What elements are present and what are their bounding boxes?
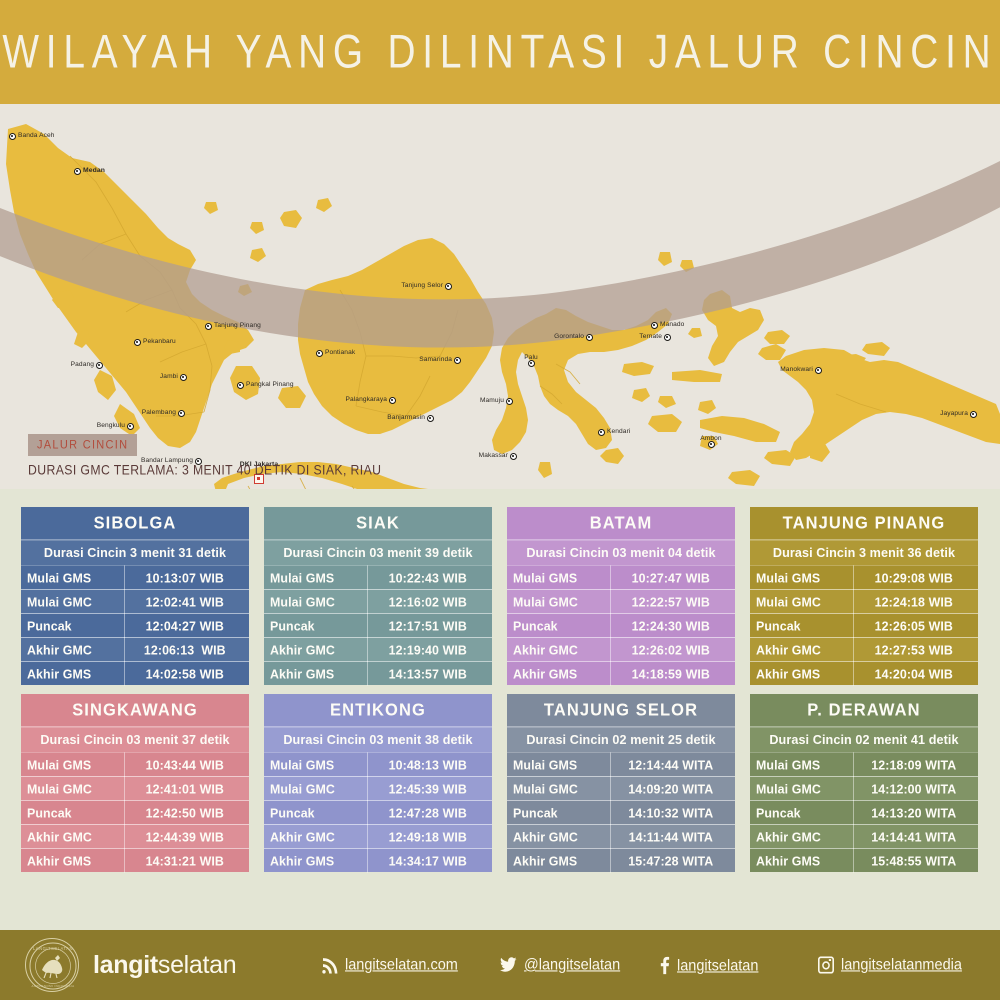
row-label: Mulai GMS — [750, 565, 853, 589]
table-row: Mulai GMC12:41:01 WIB — [21, 776, 249, 800]
table-row: Puncak12:26:05 WIB — [750, 613, 978, 637]
table-row: Mulai GMS10:27:47 WIB — [507, 565, 735, 589]
indonesia-map — [0, 104, 1000, 489]
row-value: 14:02:58 WIB — [124, 661, 249, 685]
footer-link-instagram-label: langitselatanmedia — [841, 956, 962, 973]
city-dot — [178, 410, 185, 417]
row-value: 14:13:57 WIB — [367, 661, 492, 685]
city-label: Mamuju — [409, 397, 504, 404]
row-label: Akhir GMS — [750, 661, 853, 685]
city-label: Palu — [511, 354, 551, 361]
row-value: 14:11:44 WITA — [610, 824, 735, 848]
row-value: 14:12:00 WITA — [853, 776, 978, 800]
table-row: Akhir GMS14:02:58 WIB — [21, 661, 249, 685]
table-row: Mulai GMS12:14:44 WITA — [507, 752, 735, 776]
row-value: 14:14:41 WITA — [853, 824, 978, 848]
row-label: Akhir GMS — [21, 848, 124, 872]
row-value: 12:18:09 WITA — [853, 752, 978, 776]
city-dot — [651, 322, 658, 329]
table-row: Mulai GMC12:45:39 WIB — [264, 776, 492, 800]
row-label: Akhir GMC — [21, 824, 124, 848]
card-duration: Durasi Cincin 02 menit 41 detik — [750, 726, 978, 752]
langitselatan-seal-icon: LANGITSELATAN ASTRONOMI INDONESIA — [25, 938, 79, 992]
city-timing-cards-section: SIBOLGADurasi Cincin 3 menit 31 detikMul… — [0, 489, 1000, 930]
city-timing-card: P. DERAWANDurasi Cincin 02 menit 41 deti… — [750, 694, 978, 872]
table-row: Akhir GMC12:06:13 WIB — [21, 637, 249, 661]
brand-selatan: selatan — [158, 951, 237, 979]
footer-link-instagram[interactable]: langitselatanmedia — [818, 956, 962, 973]
row-value: 14:13:20 WITA — [853, 800, 978, 824]
table-row: Mulai GMC14:09:20 WITA — [507, 776, 735, 800]
row-value: 12:02:41 WIB — [124, 589, 249, 613]
table-row: Puncak12:17:51 WIB — [264, 613, 492, 637]
row-label: Mulai GMC — [264, 776, 367, 800]
card-title: P. DERAWAN — [750, 693, 978, 728]
card-duration: Durasi Cincin 03 menit 38 detik — [264, 726, 492, 752]
city-timing-card: SINGKAWANGDurasi Cincin 03 menit 37 deti… — [21, 694, 249, 872]
city-label: Padang — [0, 361, 94, 368]
city-dot — [598, 429, 605, 436]
city-label: Tanjung Selor — [348, 282, 443, 289]
table-row: Puncak14:10:32 WITA — [507, 800, 735, 824]
city-label: Ternate — [567, 333, 662, 340]
row-value: 14:10:32 WITA — [610, 800, 735, 824]
row-label: Mulai GMC — [750, 776, 853, 800]
city-dot — [970, 411, 977, 418]
city-dot — [389, 397, 396, 404]
row-label: Akhir GMC — [750, 637, 853, 661]
city-label: Jambi — [83, 373, 178, 380]
row-value: 12:17:51 WIB — [367, 613, 492, 637]
table-row: Puncak12:47:28 WIB — [264, 800, 492, 824]
legend-jalur-cincin-badge: JALUR CINCIN — [28, 434, 137, 456]
city-label: Bengkulu — [30, 422, 125, 429]
table-row: Puncak12:42:50 WIB — [21, 800, 249, 824]
footer-link-facebook-label: langitselatan — [677, 956, 758, 973]
row-label: Puncak — [507, 613, 610, 637]
city-dot — [74, 168, 81, 175]
svg-text:LANGITSELATAN: LANGITSELATAN — [33, 946, 73, 951]
table-row: Mulai GMS12:18:09 WITA — [750, 752, 978, 776]
city-label: Pangkal Pinang — [246, 381, 294, 388]
card-title: TANJUNG SELOR — [507, 693, 735, 728]
table-row: Akhir GMS14:34:17 WIB — [264, 848, 492, 872]
row-value: 14:34:17 WIB — [367, 848, 492, 872]
table-row: Mulai GMS10:22:43 WIB — [264, 565, 492, 589]
facebook-icon — [659, 956, 670, 974]
row-value: 12:47:28 WIB — [367, 800, 492, 824]
svg-text:ASTRONOMI INDONESIA: ASTRONOMI INDONESIA — [31, 984, 74, 988]
city-dot — [510, 453, 517, 460]
row-label: Mulai GMS — [507, 752, 610, 776]
row-label: Mulai GMS — [750, 752, 853, 776]
row-label: Puncak — [21, 613, 124, 637]
row-value: 10:48:13 WIB — [367, 752, 492, 776]
city-label: Palembang — [81, 409, 176, 416]
table-row: Akhir GMS14:13:57 WIB — [264, 661, 492, 685]
row-value: 12:19:40 WIB — [367, 637, 492, 661]
card-title: ENTIKONG — [264, 693, 492, 728]
cards-grid: SIBOLGADurasi Cincin 3 menit 31 detikMul… — [21, 507, 979, 872]
card-title: SIAK — [264, 506, 492, 541]
row-value: 10:27:47 WIB — [610, 565, 735, 589]
city-label: Kendari — [607, 428, 630, 435]
header-banner: WILAYAH YANG DILINTASI JALUR CINCIN — [0, 0, 1000, 104]
table-row: Akhir GMC12:26:02 WIB — [507, 637, 735, 661]
page-title: WILAYAH YANG DILINTASI JALUR CINCIN — [2, 25, 997, 78]
city-label: Jayapura — [873, 410, 968, 417]
table-row: Puncak12:04:27 WIB — [21, 613, 249, 637]
row-value: 12:24:18 WIB — [853, 589, 978, 613]
row-label: Akhir GMC — [750, 824, 853, 848]
table-row: Puncak14:13:20 WITA — [750, 800, 978, 824]
table-row: Mulai GMC12:16:02 WIB — [264, 589, 492, 613]
row-value: 12:16:02 WIB — [367, 589, 492, 613]
row-label: Mulai GMS — [21, 565, 124, 589]
row-label: Mulai GMS — [264, 752, 367, 776]
city-label: Makassar — [413, 452, 508, 459]
row-value: 12:06:13 WIB — [124, 637, 249, 661]
row-label: Mulai GMC — [507, 589, 610, 613]
card-duration: Durasi Cincin 3 menit 31 detik — [21, 539, 249, 565]
row-label: Akhir GMS — [264, 848, 367, 872]
table-row: Akhir GMC12:27:53 WIB — [750, 637, 978, 661]
city-dot — [664, 334, 671, 341]
row-label: Mulai GMC — [264, 589, 367, 613]
row-value: 10:22:43 WIB — [367, 565, 492, 589]
legend-caption: DURASI GMC TERLAMA: 3 MENIT 40 DETIK DI … — [28, 462, 381, 478]
table-row: Akhir GMC12:49:18 WIB — [264, 824, 492, 848]
table-row: Akhir GMC12:44:39 WIB — [21, 824, 249, 848]
row-value: 14:20:04 WIB — [853, 661, 978, 685]
city-dot — [454, 357, 461, 364]
row-value: 15:48:55 WITA — [853, 848, 978, 872]
card-duration: Durasi Cincin 02 menit 25 detik — [507, 726, 735, 752]
row-value: 14:18:59 WIB — [610, 661, 735, 685]
row-value: 12:49:18 WIB — [367, 824, 492, 848]
city-timing-card: ENTIKONGDurasi Cincin 03 menit 38 detikM… — [264, 694, 492, 872]
row-label: Akhir GMS — [750, 848, 853, 872]
row-value: 12:27:53 WIB — [853, 637, 978, 661]
map-panel: Banda AcehMedanPekanbaruTanjung PinangPa… — [0, 104, 1000, 489]
row-label: Puncak — [507, 800, 610, 824]
row-label: Puncak — [264, 613, 367, 637]
city-label: Palangkaraya — [292, 396, 387, 403]
table-row: Mulai GMS10:29:08 WIB — [750, 565, 978, 589]
row-label: Akhir GMS — [507, 848, 610, 872]
city-dot — [427, 415, 434, 422]
footer-link-twitter[interactable]: @langitselatan — [500, 956, 620, 973]
table-row: Mulai GMC12:22:57 WIB — [507, 589, 735, 613]
city-label: Banjarmasin — [330, 414, 425, 421]
row-label: Puncak — [750, 800, 853, 824]
city-dot — [506, 398, 513, 405]
card-duration: Durasi Cincin 03 menit 39 detik — [264, 539, 492, 565]
row-label: Akhir GMC — [264, 637, 367, 661]
row-label: Puncak — [264, 800, 367, 824]
row-value: 12:45:39 WIB — [367, 776, 492, 800]
footer-link-website[interactable]: langitselatan.com — [322, 956, 458, 973]
row-label: Puncak — [21, 800, 124, 824]
row-label: Puncak — [750, 613, 853, 637]
brand-langit: langit — [93, 951, 158, 979]
city-label: Ambon — [691, 435, 731, 442]
table-row: Mulai GMS10:13:07 WIB — [21, 565, 249, 589]
city-dot — [180, 374, 187, 381]
row-label: Mulai GMS — [21, 752, 124, 776]
row-label: Mulai GMC — [507, 776, 610, 800]
row-label: Mulai GMC — [21, 776, 124, 800]
table-row: Akhir GMC14:14:41 WITA — [750, 824, 978, 848]
city-label: Medan — [83, 167, 105, 174]
row-value: 10:29:08 WIB — [853, 565, 978, 589]
row-value: 10:13:07 WIB — [124, 565, 249, 589]
city-timing-card: BATAMDurasi Cincin 03 menit 04 detikMula… — [507, 507, 735, 685]
city-dot — [9, 133, 16, 140]
row-label: Akhir GMC — [264, 824, 367, 848]
city-label: Pontianak — [325, 349, 355, 356]
row-label: Akhir GMC — [21, 637, 124, 661]
row-value: 14:31:21 WIB — [124, 848, 249, 872]
row-label: Akhir GMS — [264, 661, 367, 685]
footer-link-facebook[interactable]: langitselatan — [659, 956, 758, 974]
rss-icon — [322, 956, 338, 973]
card-title: SIBOLGA — [21, 506, 249, 541]
row-value: 12:42:50 WIB — [124, 800, 249, 824]
row-label: Mulai GMC — [21, 589, 124, 613]
footer-link-twitter-label: @langitselatan — [524, 956, 620, 973]
city-label: Samarinda — [357, 356, 452, 363]
table-row: Akhir GMS14:20:04 WIB — [750, 661, 978, 685]
infographic-page: WILAYAH YANG DILINTASI JALUR CINCIN — [0, 0, 1000, 1000]
city-dot — [815, 367, 822, 374]
footer-logo: LANGITSELATAN ASTRONOMI INDONESIA langit… — [25, 938, 236, 992]
city-label: Banda Aceh — [18, 132, 55, 139]
row-value: 14:09:20 WITA — [610, 776, 735, 800]
table-row: Mulai GMS10:48:13 WIB — [264, 752, 492, 776]
footer-bar: LANGITSELATAN ASTRONOMI INDONESIA langit… — [0, 930, 1000, 1000]
card-title: TANJUNG PINANG — [750, 506, 978, 541]
city-label: Manado — [660, 321, 684, 328]
city-dot — [127, 423, 134, 430]
city-dot — [96, 362, 103, 369]
table-row: Akhir GMC14:11:44 WITA — [507, 824, 735, 848]
card-duration: Durasi Cincin 03 menit 37 detik — [21, 726, 249, 752]
city-label: Pekanbaru — [143, 338, 176, 345]
card-duration: Durasi Cincin 3 menit 36 detik — [750, 539, 978, 565]
table-row: Akhir GMS15:47:28 WITA — [507, 848, 735, 872]
card-title: SINGKAWANG — [21, 693, 249, 728]
table-row: Akhir GMS14:18:59 WIB — [507, 661, 735, 685]
table-row: Mulai GMC14:12:00 WITA — [750, 776, 978, 800]
city-timing-card: TANJUNG PINANGDurasi Cincin 3 menit 36 d… — [750, 507, 978, 685]
table-row: Akhir GMC12:19:40 WIB — [264, 637, 492, 661]
city-timing-card: SIBOLGADurasi Cincin 3 menit 31 detikMul… — [21, 507, 249, 685]
city-label: Tanjung Pinang — [214, 322, 261, 329]
footer-link-website-label: langitselatan.com — [345, 956, 458, 973]
city-label: Manokwari — [718, 366, 813, 373]
row-value: 10:43:44 WIB — [124, 752, 249, 776]
seal-emblem-icon: LANGITSELATAN ASTRONOMI INDONESIA — [26, 939, 80, 993]
city-dot — [134, 339, 141, 346]
footer-brand-wordmark: langitselatan — [93, 951, 236, 980]
row-value: 12:41:01 WIB — [124, 776, 249, 800]
row-label: Akhir GMC — [507, 824, 610, 848]
row-label: Akhir GMC — [507, 637, 610, 661]
row-label: Akhir GMS — [21, 661, 124, 685]
row-value: 12:22:57 WIB — [610, 589, 735, 613]
card-title: BATAM — [507, 506, 735, 541]
row-label: Mulai GMC — [750, 589, 853, 613]
table-row: Mulai GMC12:24:18 WIB — [750, 589, 978, 613]
city-timing-card: TANJUNG SELORDurasi Cincin 02 menit 25 d… — [507, 694, 735, 872]
table-row: Akhir GMS15:48:55 WITA — [750, 848, 978, 872]
row-value: 12:24:30 WIB — [610, 613, 735, 637]
row-value: 12:14:44 WITA — [610, 752, 735, 776]
row-value: 15:47:28 WITA — [610, 848, 735, 872]
table-row: Mulai GMS10:43:44 WIB — [21, 752, 249, 776]
row-value: 12:44:39 WIB — [124, 824, 249, 848]
card-duration: Durasi Cincin 03 menit 04 detik — [507, 539, 735, 565]
instagram-icon — [818, 956, 834, 973]
row-value: 12:26:05 WIB — [853, 613, 978, 637]
table-row: Puncak12:24:30 WIB — [507, 613, 735, 637]
table-row: Mulai GMC12:02:41 WIB — [21, 589, 249, 613]
city-dot — [445, 283, 452, 290]
city-timing-card: SIAKDurasi Cincin 03 menit 39 detikMulai… — [264, 507, 492, 685]
row-label: Mulai GMS — [264, 565, 367, 589]
city-dot — [316, 350, 323, 357]
row-value: 12:26:02 WIB — [610, 637, 735, 661]
twitter-icon — [500, 956, 517, 973]
row-label: Mulai GMS — [507, 565, 610, 589]
city-dot — [205, 323, 212, 330]
row-value: 12:04:27 WIB — [124, 613, 249, 637]
row-label: Akhir GMS — [507, 661, 610, 685]
table-row: Akhir GMS14:31:21 WIB — [21, 848, 249, 872]
city-dot — [237, 382, 244, 389]
